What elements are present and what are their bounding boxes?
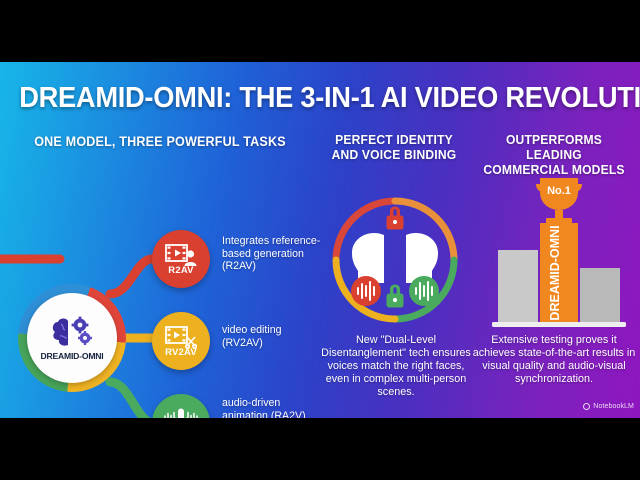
task-node-r2av[interactable]: R2AV — [152, 230, 210, 288]
winner-bar-label: DREAMID-OMNI — [548, 225, 562, 320]
chart-baseline — [492, 322, 626, 327]
film-scissors-icon — [165, 325, 197, 349]
benchmark-bar-chart: No.1 DREAMID-OMNI — [484, 170, 634, 335]
hub-label: DREAMID-OMNI — [40, 351, 103, 361]
notebooklm-logo-icon — [583, 403, 590, 410]
letterbox-top — [0, 0, 640, 62]
trophy-label: No.1 — [547, 185, 571, 197]
letterbox-bottom — [0, 418, 640, 480]
hub-node-dreamid-omni[interactable]: DREAMID-OMNI — [18, 284, 126, 392]
slide-canvas: DREAMID-OMNI: THE 3-IN-1 AI VIDEO REVOLU… — [0, 62, 640, 418]
task-node-tag: RV2AV — [165, 347, 197, 358]
infographic-slide: DREAMID-OMNI: THE 3-IN-1 AI VIDEO REVOLU… — [0, 0, 640, 480]
lock-top-icon — [387, 207, 404, 230]
right-heading-line1: OUTPERFORMS LEADING — [478, 132, 631, 162]
task-description-rv2av: video editing (RV2AV) — [222, 324, 322, 349]
brain-gears-icon — [49, 315, 95, 349]
waveform-left-icon — [351, 276, 381, 306]
bar-competitor-a — [498, 250, 538, 322]
task-node-tag: R2AV — [168, 265, 193, 276]
identity-voice-binding-icon — [322, 187, 468, 333]
waveform-right-icon — [409, 276, 439, 306]
trophy-icon: No.1 — [536, 178, 582, 224]
lock-bottom-icon — [387, 285, 404, 308]
bar-competitor-b — [580, 268, 620, 322]
watermark-label: NotebookLM — [593, 403, 634, 410]
middle-heading-line2: AND VOICE BINDING — [323, 147, 464, 162]
task-node-rv2av[interactable]: RV2AV — [152, 312, 210, 370]
middle-caption: New "Dual-Level Disentanglement" tech en… — [316, 334, 476, 399]
page-title: DREAMID-OMNI: THE 3-IN-1 AI VIDEO REVOLU… — [19, 82, 621, 115]
task-description-ra2v: audio-driven animation (RA2V) into a sin… — [222, 397, 322, 418]
middle-column-heading: PERFECT IDENTITY AND VOICE BINDING — [323, 132, 464, 162]
hub-inner: DREAMID-OMNI — [27, 293, 117, 383]
right-caption: Extensive testing proves it achieves sta… — [472, 334, 636, 386]
watermark: NotebookLM — [583, 403, 634, 410]
microphone-waveform-icon — [163, 407, 199, 419]
film-person-icon — [165, 243, 197, 267]
middle-heading-line1: PERFECT IDENTITY — [323, 132, 464, 147]
task-description-r2av: Integrates reference-based generation (R… — [222, 235, 322, 273]
